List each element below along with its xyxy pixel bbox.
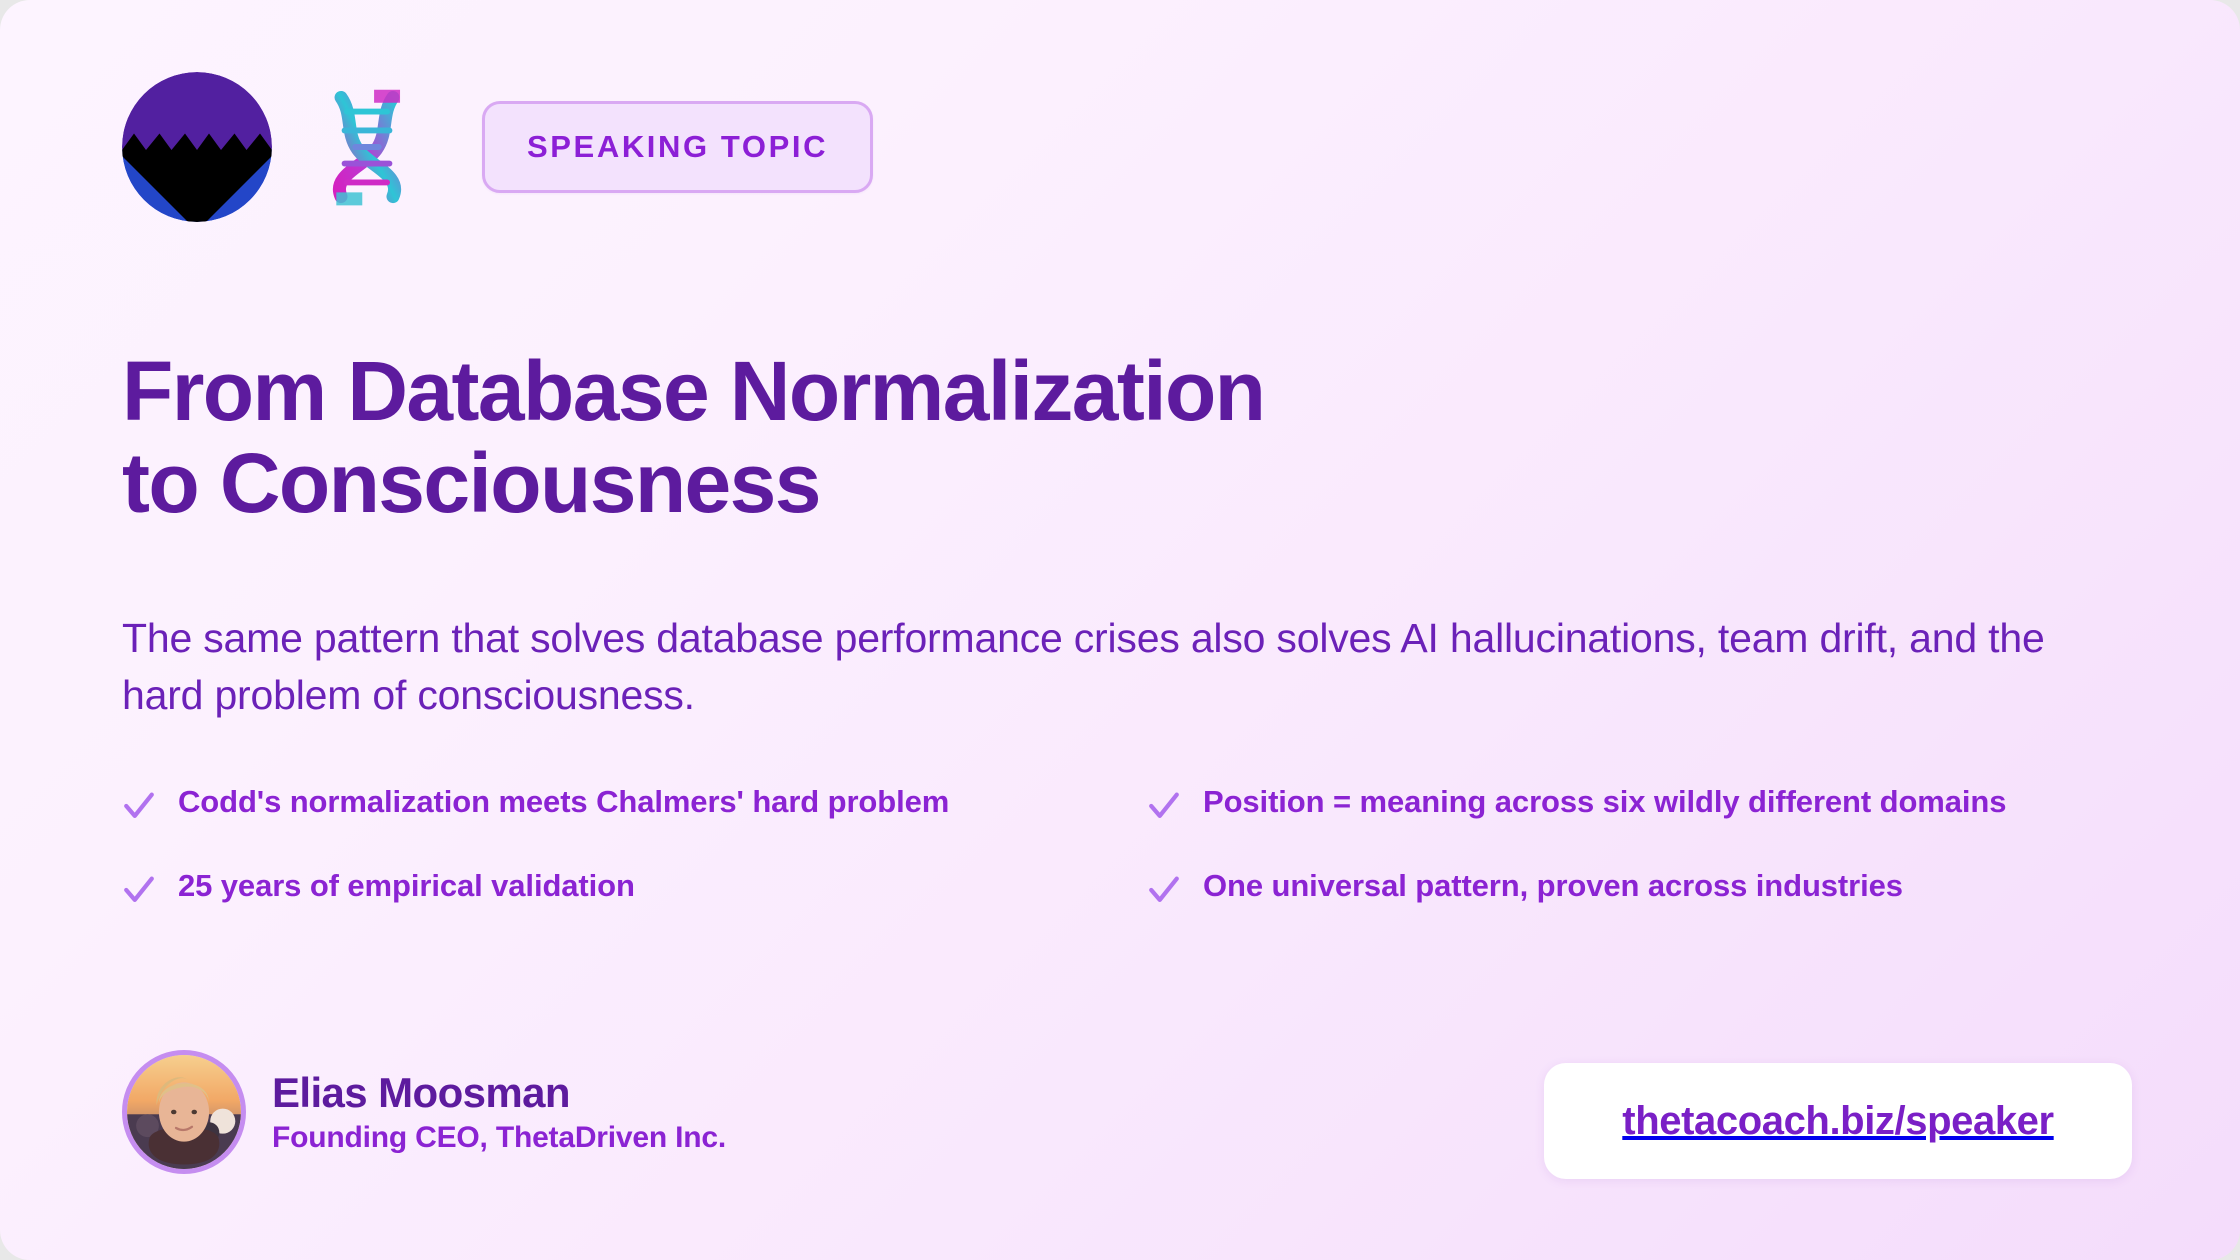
speaker-identity: Elias Moosman Founding CEO, ThetaDriven … — [122, 1050, 726, 1174]
speaking-topic-badge-label: SPEAKING TOPIC — [527, 129, 828, 165]
benefits-checklist: Codd's normalization meets Chalmers' har… — [122, 780, 2112, 910]
list-item: Position = meaning across six wildly dif… — [1147, 780, 2112, 826]
cta-url-label: thetacoach.biz/speaker — [1622, 1099, 2053, 1144]
thetadriven-logo — [122, 72, 272, 222]
page-title: From Database Normalization to Conscious… — [122, 345, 1642, 530]
cta-url-button[interactable]: thetacoach.biz/speaker — [1544, 1063, 2132, 1179]
speaking-topic-badge: SPEAKING TOPIC — [482, 101, 873, 193]
check-icon — [122, 870, 156, 910]
list-item-label: One universal pattern, proven across ind… — [1203, 864, 1903, 906]
check-icon — [1147, 870, 1181, 910]
speaker-name: Elias Moosman — [272, 1068, 726, 1118]
check-icon — [1147, 786, 1181, 826]
list-item-label: 25 years of empirical validation — [178, 864, 635, 906]
list-item-label: Position = meaning across six wildly dif… — [1203, 780, 2006, 822]
list-item: One universal pattern, proven across ind… — [1147, 864, 2112, 910]
list-item: Codd's normalization meets Chalmers' har… — [122, 780, 1087, 826]
dna-helix-emoji — [308, 88, 426, 206]
page-title-line-1: From Database Normalization — [122, 345, 1642, 437]
card-header: SPEAKING TOPIC — [122, 72, 873, 222]
speaking-topic-card: SPEAKING TOPIC From Database Normalizati… — [0, 0, 2240, 1260]
page-title-line-2: to Consciousness — [122, 437, 1642, 529]
speaker-role: Founding CEO, ThetaDriven Inc. — [272, 1120, 726, 1156]
list-item-label: Codd's normalization meets Chalmers' har… — [178, 780, 949, 822]
page-subtitle: The same pattern that solves database pe… — [122, 610, 2132, 723]
speaker-text-block: Elias Moosman Founding CEO, ThetaDriven … — [272, 1068, 726, 1156]
speaker-avatar — [122, 1050, 246, 1174]
check-icon — [122, 786, 156, 826]
list-item: 25 years of empirical validation — [122, 864, 1087, 910]
